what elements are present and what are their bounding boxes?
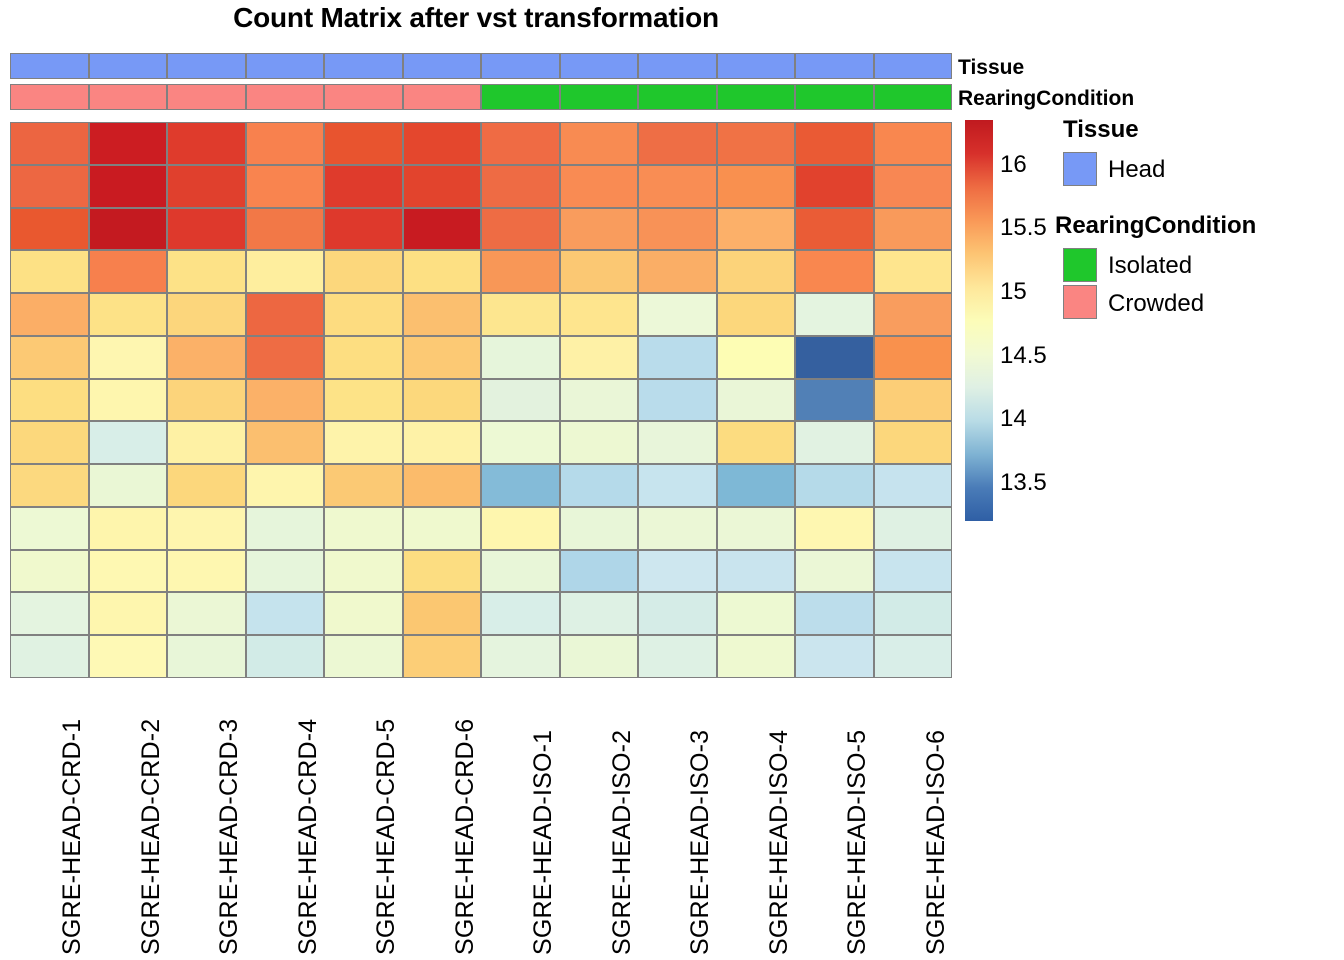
annotation-cell <box>560 53 639 79</box>
heatmap-cell <box>481 165 560 208</box>
heatmap-cell <box>795 336 874 379</box>
annotation-cell <box>167 53 246 79</box>
heatmap-cell <box>89 421 168 464</box>
heatmap-cell <box>874 336 953 379</box>
heatmap-cell <box>10 250 89 293</box>
annotation-cell <box>874 84 953 110</box>
heatmap-cell <box>89 550 168 593</box>
heatmap-cell <box>403 421 482 464</box>
heatmap-cell <box>874 208 953 251</box>
column-label: SGRE-HEAD-CRD-1 <box>58 719 87 955</box>
heatmap-cell <box>10 421 89 464</box>
heatmap-cell <box>167 122 246 165</box>
heatmap-cell <box>167 592 246 635</box>
heatmap-cell <box>10 336 89 379</box>
heatmap-cell <box>324 379 403 422</box>
heatmap-cell <box>717 165 796 208</box>
legend-label-tissue-head: Head <box>1108 156 1165 184</box>
heatmap-cell <box>481 507 560 550</box>
annotation-cell <box>246 84 325 110</box>
heatmap-cell <box>324 464 403 507</box>
heatmap-cell <box>10 293 89 336</box>
annotation-cell <box>795 53 874 79</box>
heatmap-cell <box>481 550 560 593</box>
heatmap-cell <box>324 250 403 293</box>
column-label: SGRE-HEAD-CRD-4 <box>294 719 323 955</box>
heatmap-cell <box>481 464 560 507</box>
heatmap-cell <box>89 464 168 507</box>
heatmap-cell <box>246 421 325 464</box>
heatmap-cell <box>481 421 560 464</box>
annotation-cell <box>10 84 89 110</box>
heatmap-cell <box>246 208 325 251</box>
heatmap-cell <box>717 208 796 251</box>
column-label: SGRE-HEAD-ISO-4 <box>765 730 794 955</box>
annotation-cell <box>717 84 796 110</box>
heatmap-cell <box>10 165 89 208</box>
column-label: SGRE-HEAD-ISO-3 <box>686 730 715 955</box>
heatmap-cell <box>560 507 639 550</box>
heatmap-cell <box>10 592 89 635</box>
annotation-cell <box>246 53 325 79</box>
heatmap-cell <box>717 592 796 635</box>
heatmap-cell <box>481 208 560 251</box>
heatmap-cell <box>403 208 482 251</box>
heatmap-cell <box>324 550 403 593</box>
heatmap-cell <box>324 208 403 251</box>
heatmap-cell <box>246 464 325 507</box>
heatmap-cell <box>717 293 796 336</box>
column-label: SGRE-HEAD-CRD-2 <box>137 719 166 955</box>
annotation-cell <box>638 84 717 110</box>
heatmap-cell <box>324 165 403 208</box>
heatmap-cell <box>638 379 717 422</box>
heatmap-cell <box>246 379 325 422</box>
heatmap-cell <box>795 208 874 251</box>
heatmap-cell <box>874 464 953 507</box>
heatmap-cell <box>324 122 403 165</box>
annotation-bar-tissue <box>10 53 952 79</box>
colorbar-tick-label: 14 <box>1000 405 1027 433</box>
annotation-cell <box>324 53 403 79</box>
heatmap-cell <box>560 250 639 293</box>
legend-label-rearing-crowded: Crowded <box>1108 290 1204 318</box>
annotation-cell <box>89 53 168 79</box>
heatmap-cell <box>246 122 325 165</box>
column-label: SGRE-HEAD-ISO-1 <box>529 730 558 955</box>
annotation-cell <box>874 53 953 79</box>
heatmap-cell <box>795 250 874 293</box>
heatmap-cell <box>795 293 874 336</box>
heatmap-cell <box>874 379 953 422</box>
heatmap-cell <box>246 507 325 550</box>
heatmap-cell <box>89 122 168 165</box>
heatmap-cell <box>167 293 246 336</box>
heatmap-cell <box>167 379 246 422</box>
heatmap-cell <box>167 550 246 593</box>
annotation-cell <box>717 53 796 79</box>
annotation-cell <box>10 53 89 79</box>
heatmap-cell <box>167 507 246 550</box>
legend-swatch-tissue-head[interactable] <box>1063 152 1097 186</box>
heatmap-cell <box>246 165 325 208</box>
heatmap-cell <box>560 550 639 593</box>
annotation-bar-rearing-condition <box>10 84 952 110</box>
heatmap-cell <box>638 635 717 678</box>
column-label: SGRE-HEAD-CRD-6 <box>451 719 480 955</box>
annotation-cell <box>560 84 639 110</box>
heatmap-cell <box>10 550 89 593</box>
heatmap-cell <box>717 336 796 379</box>
colorbar-tick-label: 16 <box>1000 151 1027 179</box>
heatmap-cell <box>403 122 482 165</box>
annotation-cell <box>403 84 482 110</box>
heatmap-cell <box>89 293 168 336</box>
heatmap-cell <box>795 421 874 464</box>
heatmap-cell <box>560 336 639 379</box>
heatmap-cell <box>795 550 874 593</box>
heatmap-cell <box>874 550 953 593</box>
annotation-cell <box>403 53 482 79</box>
heatmap-cell <box>717 464 796 507</box>
annotation-cell <box>481 84 560 110</box>
annotation-cell <box>167 84 246 110</box>
heatmap-cell <box>638 550 717 593</box>
heatmap-cell <box>795 122 874 165</box>
heatmap-cell <box>481 379 560 422</box>
heatmap-cell <box>167 165 246 208</box>
heatmap-cell <box>89 379 168 422</box>
heatmap-cell <box>717 122 796 165</box>
annotation-cell <box>89 84 168 110</box>
heatmap-cell <box>560 421 639 464</box>
heatmap-cell <box>403 293 482 336</box>
legend-swatch-rearing-crowded[interactable] <box>1063 285 1097 319</box>
heatmap-cell <box>874 250 953 293</box>
heatmap-cell <box>638 293 717 336</box>
heatmap-cell <box>560 592 639 635</box>
heatmap-cell <box>560 635 639 678</box>
heatmap-cell <box>89 507 168 550</box>
heatmap-cell <box>717 421 796 464</box>
heatmap-cell <box>246 293 325 336</box>
heatmap-cell <box>874 592 953 635</box>
legend-label-rearing-isolated: Isolated <box>1108 252 1192 280</box>
page-title: Count Matrix after vst transformation <box>0 2 952 34</box>
heatmap-cell <box>560 165 639 208</box>
heatmap-grid <box>10 122 952 678</box>
heatmap-cell <box>246 336 325 379</box>
heatmap-cell <box>481 122 560 165</box>
column-label: SGRE-HEAD-ISO-6 <box>922 730 951 955</box>
colorbar-tick-label: 15.5 <box>1000 214 1047 242</box>
annotation-label-tissue: Tissue <box>958 57 1024 78</box>
heatmap-cell <box>167 336 246 379</box>
heatmap-cell <box>481 250 560 293</box>
colorbar-tick-label: 13.5 <box>1000 469 1047 497</box>
heatmap-cell <box>874 507 953 550</box>
heatmap-cell <box>403 592 482 635</box>
heatmap-cell <box>717 635 796 678</box>
heatmap-cell <box>560 379 639 422</box>
column-label: SGRE-HEAD-CRD-5 <box>372 719 401 955</box>
heatmap-cell <box>638 336 717 379</box>
heatmap-cell <box>481 592 560 635</box>
heatmap-cell <box>246 550 325 593</box>
heatmap-cell <box>10 507 89 550</box>
legend-swatch-rearing-isolated[interactable] <box>1063 248 1097 282</box>
heatmap-cell <box>874 421 953 464</box>
heatmap-cell <box>638 464 717 507</box>
colorbar-tick-label: 14.5 <box>1000 342 1047 370</box>
heatmap-cell <box>795 635 874 678</box>
heatmap-cell <box>10 208 89 251</box>
heatmap-cell <box>403 550 482 593</box>
heatmap-cell <box>481 635 560 678</box>
heatmap-cell <box>403 635 482 678</box>
heatmap-cell <box>795 165 874 208</box>
heatmap-cell <box>246 592 325 635</box>
annotation-cell <box>638 53 717 79</box>
heatmap-cell <box>874 165 953 208</box>
annotation-cell <box>481 53 560 79</box>
heatmap-cell <box>167 208 246 251</box>
heatmap-cell <box>717 250 796 293</box>
heatmap-cell <box>10 464 89 507</box>
annotation-cell <box>795 84 874 110</box>
heatmap-cell <box>167 464 246 507</box>
heatmap-cell <box>403 250 482 293</box>
heatmap-cell <box>403 165 482 208</box>
heatmap-cell <box>89 208 168 251</box>
heatmap-cell <box>246 635 325 678</box>
heatmap-cell <box>10 379 89 422</box>
heatmap-cell <box>874 293 953 336</box>
heatmap-cell <box>874 122 953 165</box>
heatmap-cell <box>795 379 874 422</box>
heatmap-cell <box>560 122 639 165</box>
column-label: SGRE-HEAD-ISO-2 <box>608 730 637 955</box>
heatmap-cell <box>638 122 717 165</box>
heatmap-cell <box>403 379 482 422</box>
heatmap-cell <box>560 464 639 507</box>
heatmap-cell <box>717 550 796 593</box>
heatmap-cell <box>89 635 168 678</box>
column-label: SGRE-HEAD-CRD-3 <box>215 719 244 955</box>
heatmap-cell <box>638 507 717 550</box>
heatmap-cell <box>167 635 246 678</box>
annotation-label-rearing-condition: RearingCondition <box>958 88 1134 109</box>
heatmap-cell <box>324 507 403 550</box>
heatmap-cell <box>481 336 560 379</box>
heatmap-cell <box>874 635 953 678</box>
legend-title-rearing-condition: RearingCondition <box>1055 212 1256 240</box>
heatmap-cell <box>89 250 168 293</box>
heatmap-cell <box>167 421 246 464</box>
heatmap-cell <box>638 208 717 251</box>
heatmap-cell <box>403 464 482 507</box>
heatmap-cell <box>324 293 403 336</box>
colorbar <box>965 120 993 521</box>
heatmap-cell <box>795 592 874 635</box>
heatmap-cell <box>324 421 403 464</box>
heatmap-cell <box>717 379 796 422</box>
colorbar-tick-label: 15 <box>1000 278 1027 306</box>
heatmap-cell <box>403 507 482 550</box>
heatmap-cell <box>560 293 639 336</box>
heatmap-cell <box>167 250 246 293</box>
heatmap-cell <box>795 507 874 550</box>
heatmap-cell <box>324 592 403 635</box>
legend-title-tissue: Tissue <box>1063 116 1139 144</box>
column-label: SGRE-HEAD-ISO-5 <box>843 730 872 955</box>
heatmap-cell <box>324 635 403 678</box>
heatmap-cell <box>795 464 874 507</box>
heatmap-cell <box>481 293 560 336</box>
heatmap-cell <box>560 208 639 251</box>
heatmap-cell <box>638 250 717 293</box>
heatmap-cell <box>638 165 717 208</box>
heatmap-cell <box>89 336 168 379</box>
heatmap-cell <box>89 165 168 208</box>
annotation-cell <box>324 84 403 110</box>
heatmap-cell <box>717 507 796 550</box>
heatmap-cell <box>89 592 168 635</box>
heatmap-cell <box>403 336 482 379</box>
heatmap-cell <box>638 592 717 635</box>
heatmap-cell <box>324 336 403 379</box>
heatmap-cell <box>10 122 89 165</box>
heatmap-cell <box>10 635 89 678</box>
heatmap-cell <box>638 421 717 464</box>
heatmap-cell <box>246 250 325 293</box>
